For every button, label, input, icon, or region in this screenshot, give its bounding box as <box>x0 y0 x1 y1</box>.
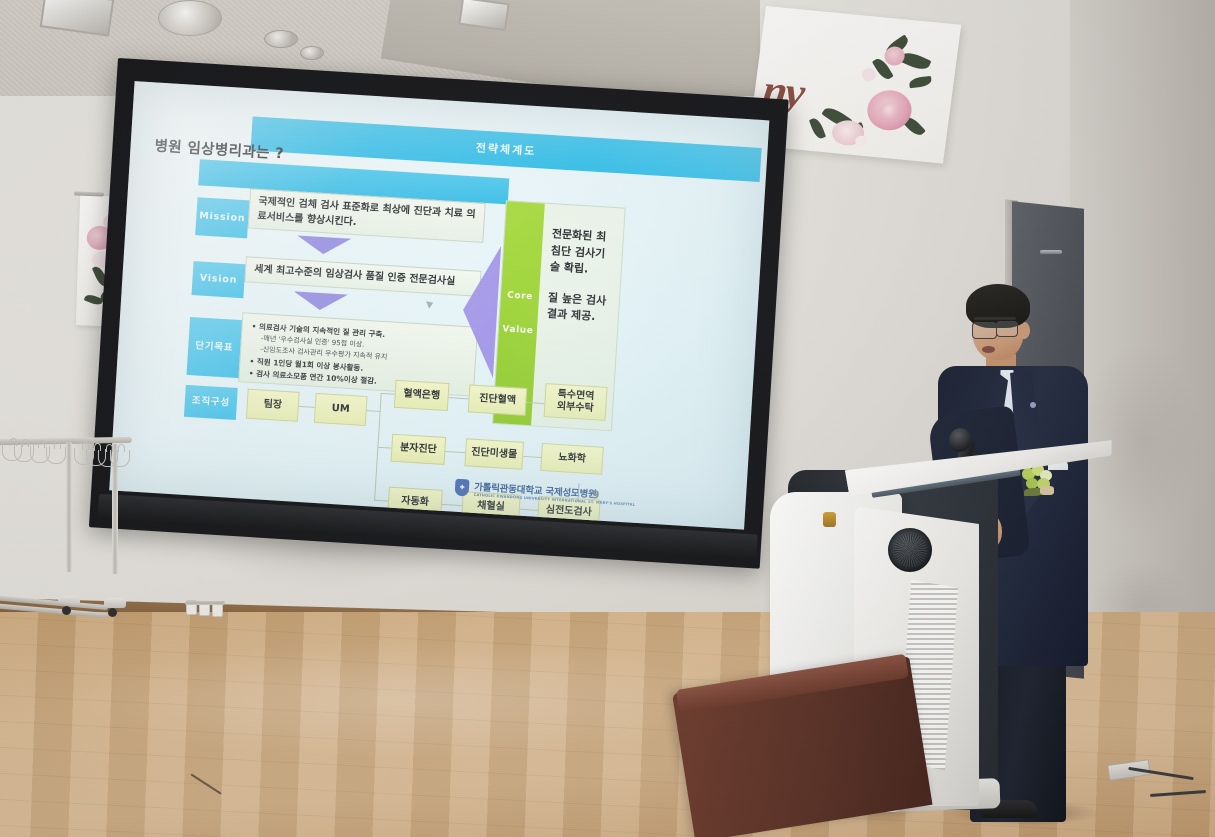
core-value-line-1: 전문화된 최침단 검사기술 확립. <box>549 226 616 279</box>
rack-caster <box>108 608 117 617</box>
org-node-diagnostic-hematology: 진단혈액 <box>468 384 528 416</box>
screen-surface: 전략체계도 병원 임상병리과는 ? Mission 국제적인 검체 검사 표준화… <box>109 81 769 530</box>
rack-post <box>66 442 72 572</box>
org-connector <box>381 393 395 395</box>
org-connector <box>445 451 465 454</box>
hospital-shield-icon: ✚ <box>455 478 470 496</box>
projection-screen: 전략체계도 병원 임상병리과는 ? Mission 국제적인 검체 검사 표준화… <box>89 58 789 569</box>
photo-scene: ny 전략체계도 병원 임 <box>0 0 1215 837</box>
person-mouth <box>982 346 995 353</box>
wall-outlet <box>185 601 225 605</box>
glasses-lens-right <box>996 321 1018 337</box>
org-node-teamlead: 팀장 <box>246 389 300 422</box>
org-node-molecular-diagnostics: 분자진단 <box>391 434 447 465</box>
org-node-um: UM <box>314 393 368 426</box>
tag-short-term-goal: 단기목표 <box>187 317 242 378</box>
org-connector <box>299 406 315 408</box>
lapel-pin-icon <box>1030 402 1036 408</box>
value-label: Value <box>502 324 534 336</box>
org-connector <box>374 500 388 502</box>
tag-org-structure-label: 조직구성 <box>191 396 230 410</box>
org-connector <box>449 397 469 400</box>
floor-reflection <box>60 640 760 760</box>
presentation-slide: 전략체계도 병원 임상병리과는 ? Mission 국제적인 검체 검사 표준화… <box>109 81 769 530</box>
sprinkler-head <box>264 30 298 48</box>
org-connector <box>520 509 538 512</box>
mouse-cursor-icon <box>426 299 435 309</box>
arrow-down-icon <box>296 235 351 255</box>
sprinkler-head <box>300 46 324 60</box>
tag-short-term-goal-label: 단기목표 <box>195 341 234 355</box>
person-eyebrow <box>974 317 1016 320</box>
core-value-line-2: 질 높은 검사 결과 제공. <box>546 290 612 327</box>
leaf-icon <box>809 116 826 140</box>
rose-icon <box>854 135 867 147</box>
podium-emblem-icon <box>823 512 836 527</box>
arrow-left-icon <box>459 244 501 378</box>
hanger-icon <box>46 447 66 464</box>
leaf-icon <box>909 76 932 88</box>
hanger-icon <box>110 450 130 467</box>
podium-speaker-grille-icon <box>888 528 932 572</box>
org-node-special-immunology: 특수면역 외부수탁 <box>544 383 608 421</box>
tag-org-structure: 조직구성 <box>184 385 238 420</box>
vision-text-box: 세계 최고수준의 임상검사 품질 인증 전문검사실 <box>244 256 481 297</box>
slide-page-number: 9 <box>591 488 599 501</box>
rack-caster <box>62 606 71 615</box>
org-connector <box>523 456 541 459</box>
ceiling-speaker <box>158 0 222 36</box>
org-node-diagnostic-microbiology: 진단미생물 <box>464 438 524 470</box>
glasses-lens-left <box>972 322 997 339</box>
org-node-urine-chemistry: 뇨화학 <box>540 443 604 475</box>
arrow-down-icon <box>293 291 348 311</box>
org-connector <box>377 447 391 449</box>
tag-mission: Mission <box>195 197 249 238</box>
org-node-bloodbank: 혈액은행 <box>394 380 450 411</box>
org-connector <box>442 504 462 507</box>
vision-text: 세계 최고수준의 임상검사 품질 인증 전문검사실 <box>254 264 456 287</box>
core-label: Core <box>507 291 533 303</box>
tag-mission-label: Mission <box>199 211 246 225</box>
tag-vision-label: Vision <box>199 273 237 287</box>
tag-vision: Vision <box>191 261 245 298</box>
rose-icon <box>861 68 877 82</box>
mission-text: 국제적인 검체 검사 표준화로 최상에 진단과 치료 의료서비스를 향상시킨다. <box>257 196 476 228</box>
door-handle[interactable] <box>1040 250 1062 254</box>
